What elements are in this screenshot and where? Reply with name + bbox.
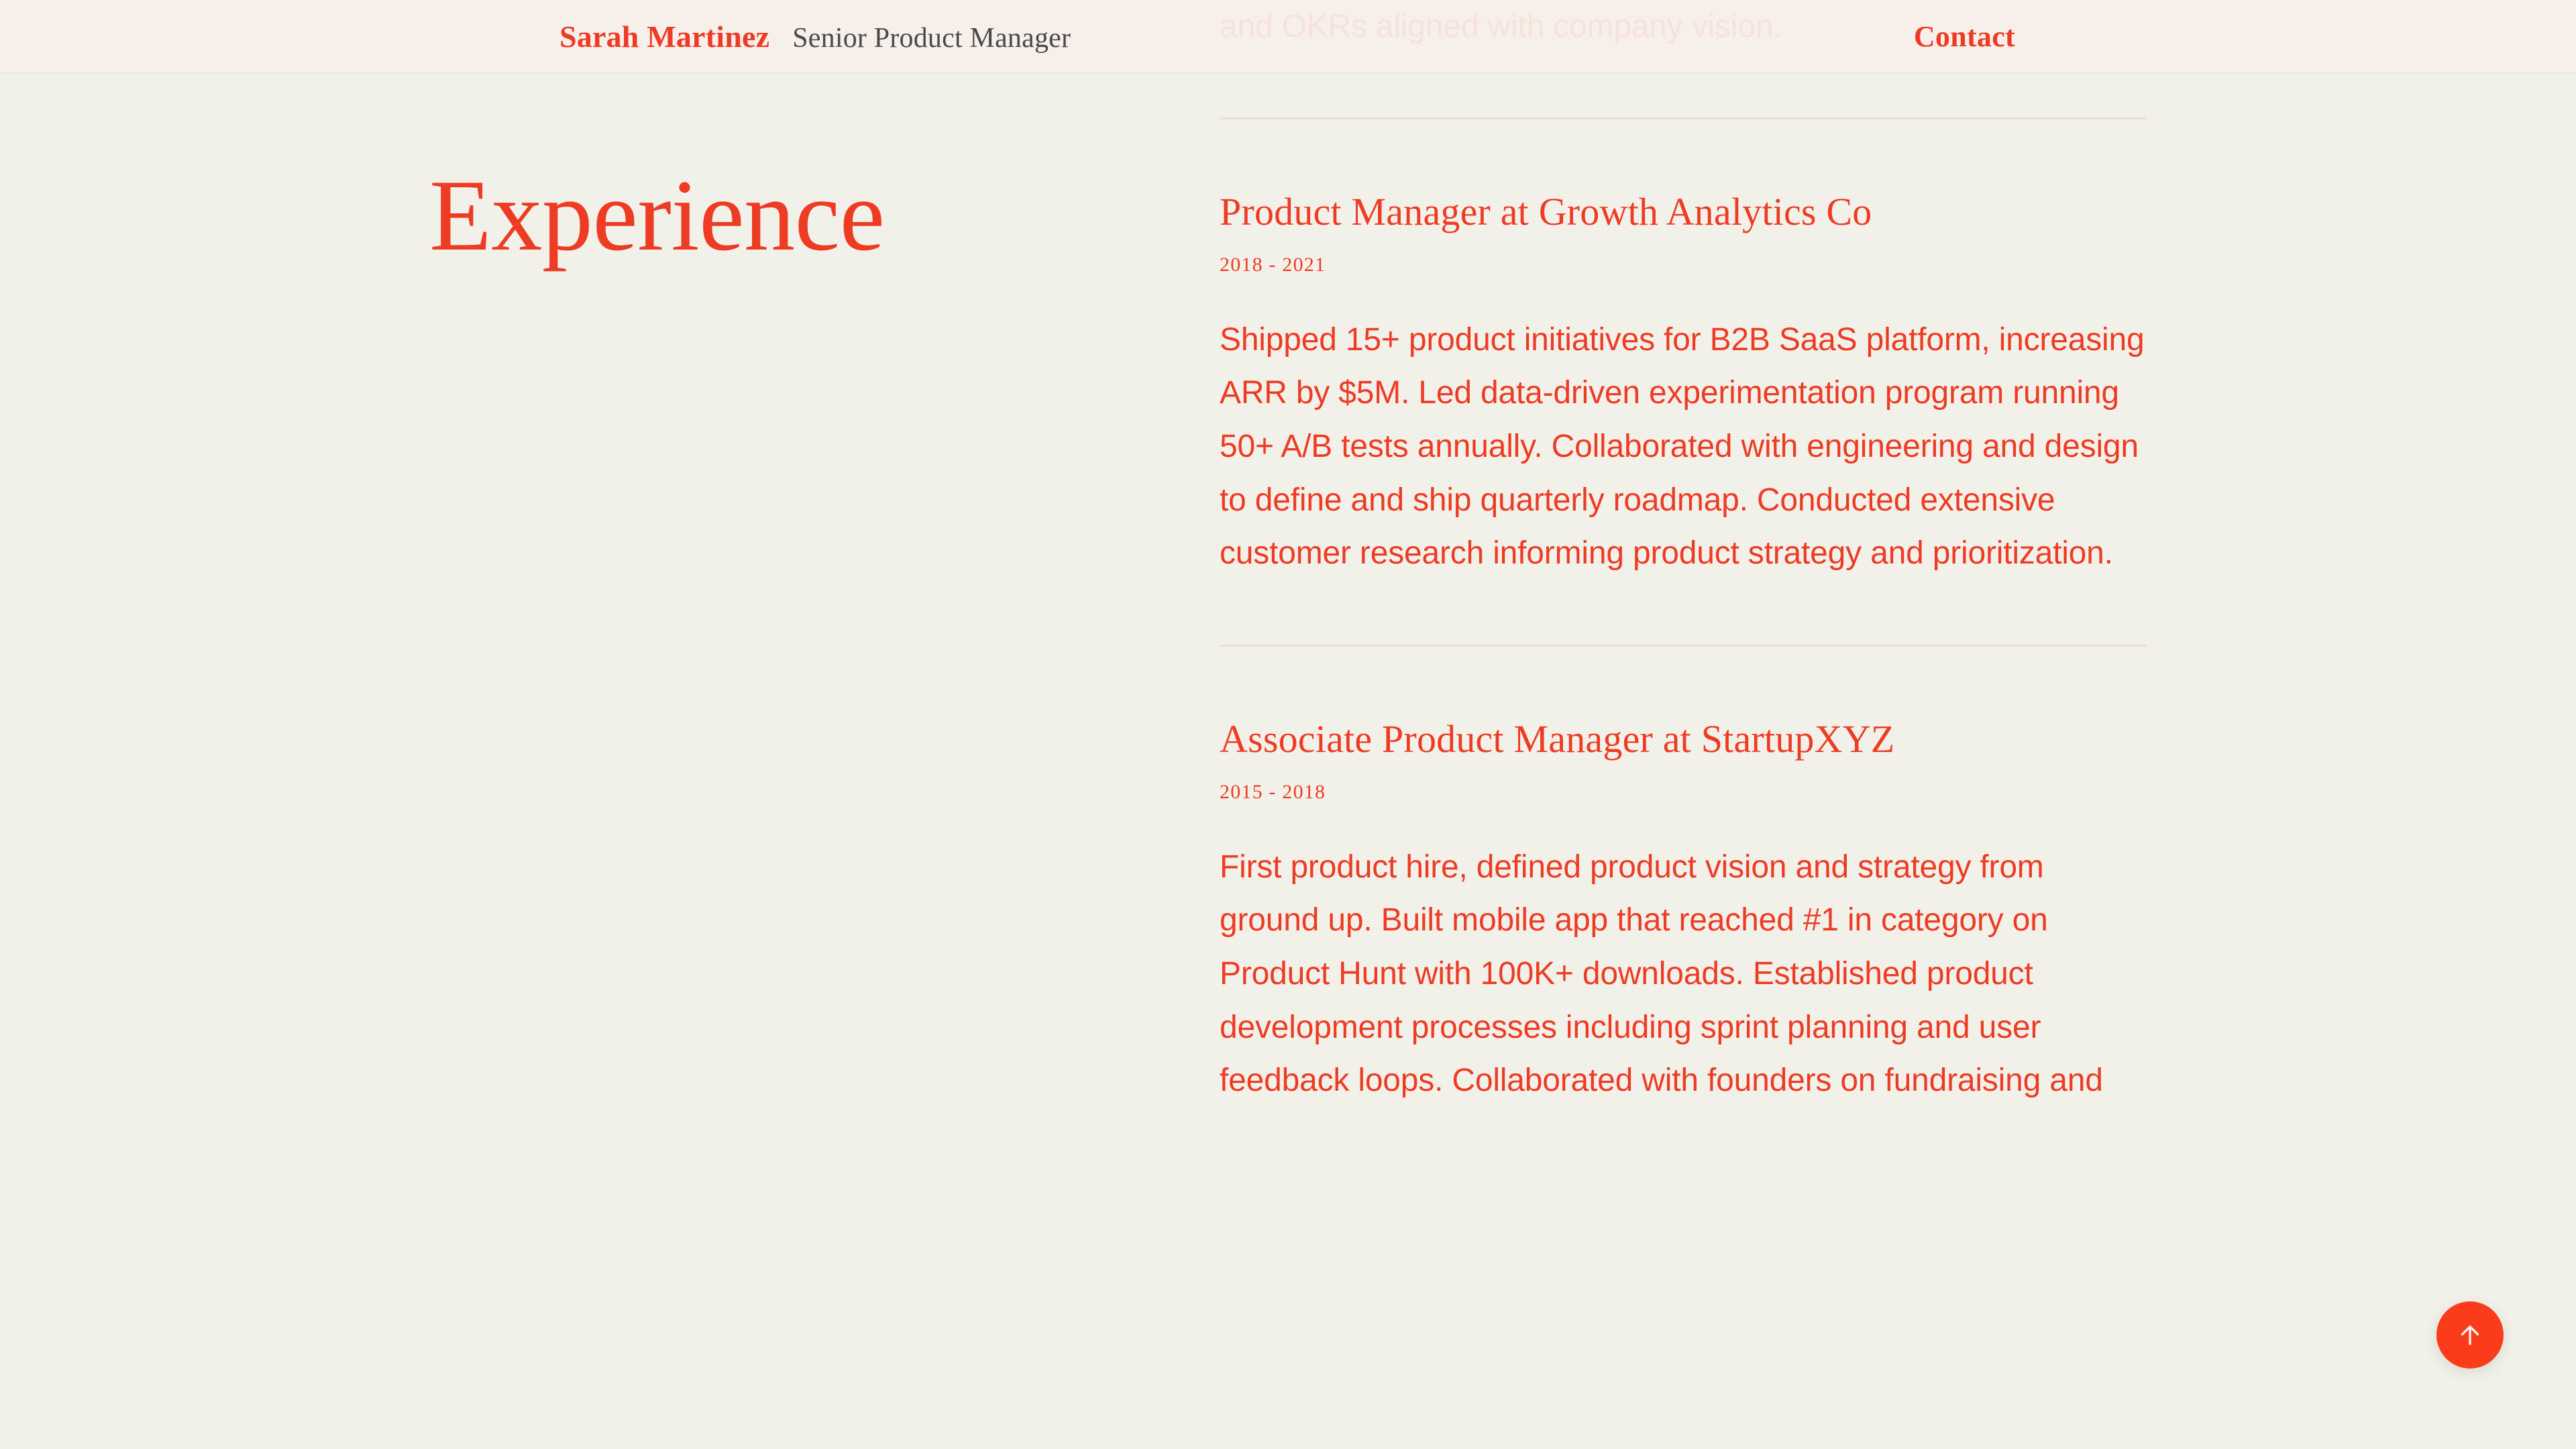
entry-divider	[1220, 645, 2147, 647]
experience-entry: Associate Product Manager at StartupXYZ …	[1220, 716, 2147, 1108]
entry-dates: 2015 - 2018	[1220, 780, 2147, 804]
page-canvas: Experience engineers, designers, and ana…	[0, 0, 2576, 1449]
experience-list: engineers, designers, and analysts. Defi…	[1220, 0, 2147, 1108]
scroll-to-top-button[interactable]	[2436, 1301, 2504, 1368]
experience-entry: Product Manager at Growth Analytics Co 2…	[1220, 189, 2147, 580]
site-header: Sarah Martinez Senior Product Manager Co…	[0, 0, 2576, 74]
entry-title: Product Manager at Growth Analytics Co	[1220, 189, 2147, 235]
entry-title: Associate Product Manager at StartupXYZ	[1220, 716, 2147, 762]
entry-dates: 2018 - 2021	[1220, 253, 2147, 277]
brand[interactable]: Sarah Martinez Senior Product Manager	[559, 19, 1071, 54]
brand-role: Senior Product Manager	[792, 22, 1071, 54]
brand-name[interactable]: Sarah Martinez	[559, 19, 769, 54]
page-title: Experience	[429, 164, 885, 266]
arrow-up-icon	[2455, 1320, 2485, 1350]
entry-description: Shipped 15+ product initiatives for B2B …	[1220, 313, 2147, 580]
nav-link-contact[interactable]: Contact	[1914, 19, 2015, 54]
entry-description: First product hire, defined product visi…	[1220, 841, 2147, 1108]
entry-divider	[1220, 117, 2147, 119]
